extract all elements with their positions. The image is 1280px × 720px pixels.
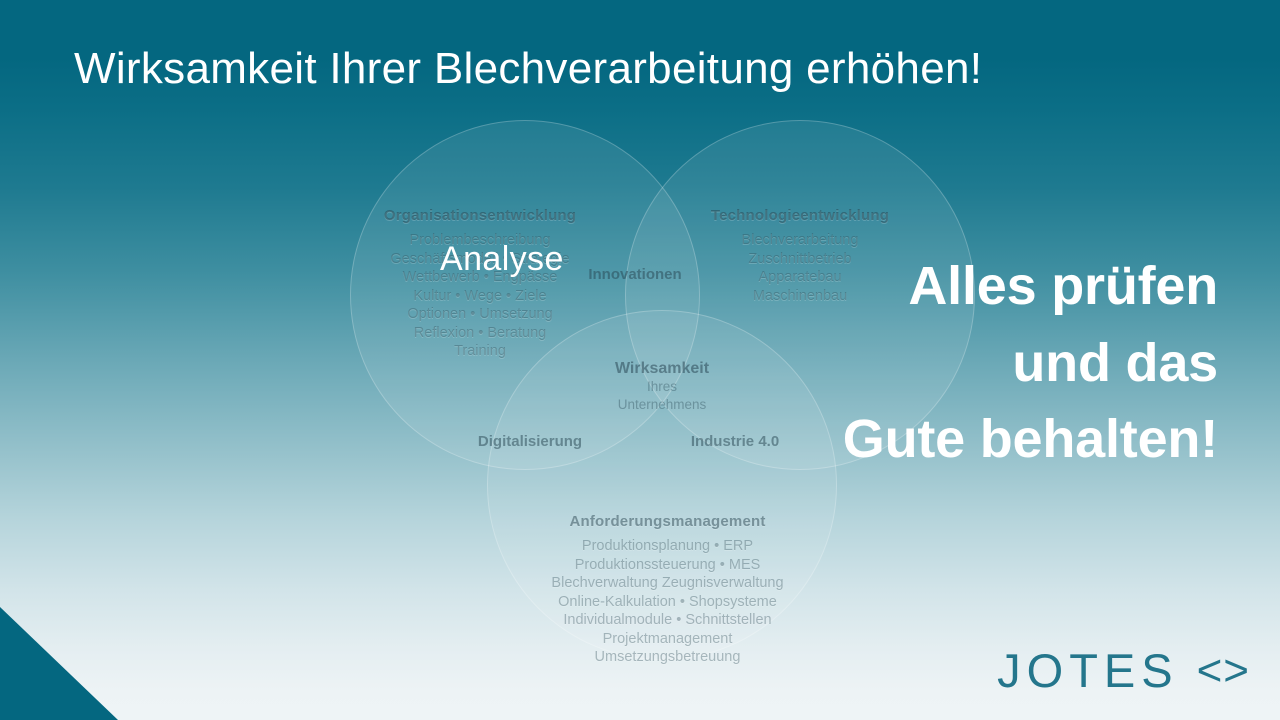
venn-line: Training xyxy=(330,342,630,361)
venn-heading-technologieentwicklung: Technologieentwicklung xyxy=(655,206,945,225)
venn-line: Reflexion • Beratung xyxy=(330,324,630,343)
brand-name: JOTES xyxy=(997,643,1178,698)
main-statement-line-3: Gute behalten! xyxy=(658,401,1218,478)
code-brackets-icon: <> xyxy=(1197,646,1250,696)
presentation-slide: Organisationsentwicklung Problembeschrei… xyxy=(0,0,1280,720)
venn-text-organisationsentwicklung: Organisationsentwicklung Problembeschrei… xyxy=(330,206,630,361)
venn-line: Produktionsplanung • ERP xyxy=(475,537,860,556)
page-title: Wirksamkeit Ihrer Blechverarbeitung erhö… xyxy=(74,44,982,94)
venn-line: Blechverarbeitung xyxy=(655,231,945,250)
main-statement: Alles prüfen und das Gute behalten! xyxy=(658,248,1218,478)
corner-triangle-decoration xyxy=(0,607,118,720)
main-statement-line-1: Alles prüfen xyxy=(658,248,1218,325)
venn-line: Kultur • Wege • Ziele xyxy=(330,287,630,306)
venn-line: Optionen • Umsetzung xyxy=(330,305,630,324)
venn-line: Umsetzungsbetreuung xyxy=(475,648,860,667)
venn-line: Projektmanagement xyxy=(475,630,860,649)
venn-line: Individualmodule • Schnittstellen xyxy=(475,611,860,630)
venn-line: Produktionssteuerung • MES xyxy=(475,556,860,575)
brand-logo: JOTES <> xyxy=(997,643,1250,698)
venn-heading-organisationsentwicklung: Organisationsentwicklung xyxy=(330,206,630,225)
venn-heading-anforderungsmanagement: Anforderungsmanagement xyxy=(475,512,860,531)
venn-line: Online-Kalkulation • Shopsysteme xyxy=(475,593,860,612)
venn-text-anforderungsmanagement: Anforderungsmanagement Produktionsplanun… xyxy=(475,512,860,667)
analyse-label: Analyse xyxy=(440,240,564,279)
main-statement-line-2: und das xyxy=(658,325,1218,402)
venn-line: Blechverwaltung Zeugnisverwaltung xyxy=(475,574,860,593)
venn-overlap-label-digitalisierung: Digitalisierung xyxy=(430,433,630,450)
